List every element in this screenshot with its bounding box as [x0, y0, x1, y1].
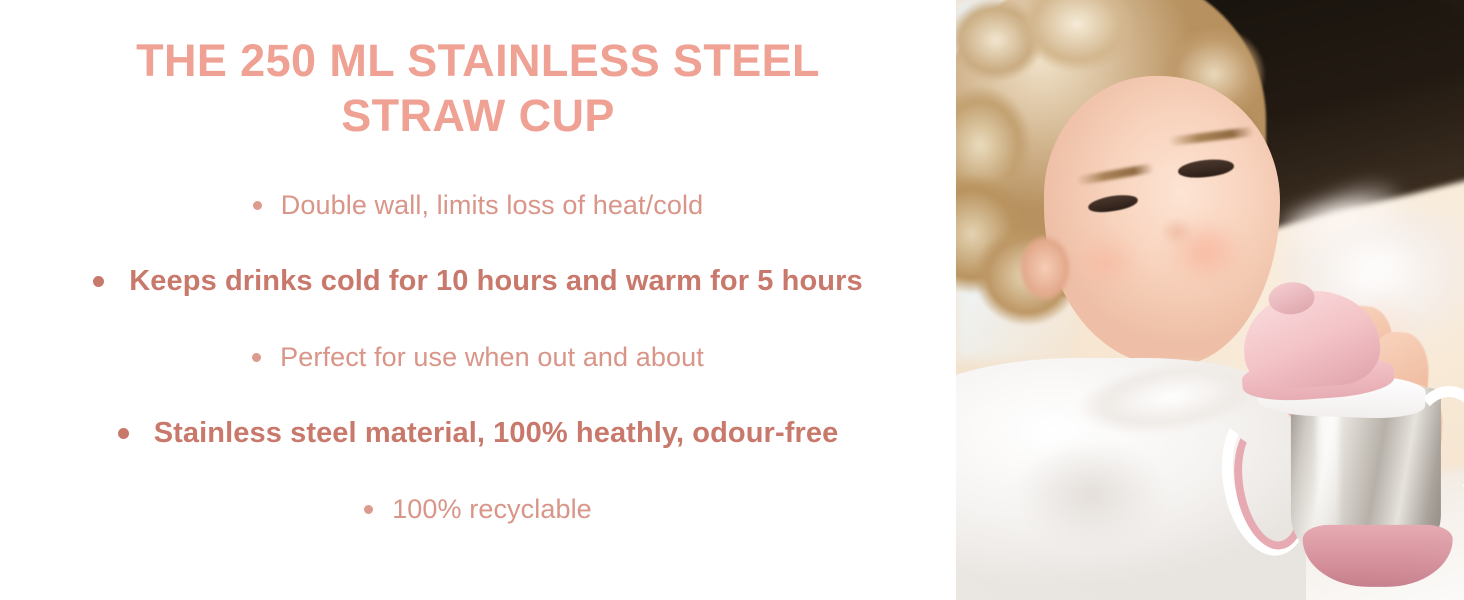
nose — [1154, 212, 1200, 252]
feature-item-1: Double wall, limits loss of heat/cold — [28, 170, 928, 242]
straw-cup-product — [1232, 274, 1464, 589]
feature-item-2: Keeps drinks cold for 10 hours and warm … — [28, 242, 928, 322]
feature-item-5: 100% recyclable — [28, 474, 928, 546]
feature-text: Keeps drinks cold for 10 hours and warm … — [129, 265, 862, 298]
feature-list: Double wall, limits loss of heat/cold Ke… — [28, 170, 928, 546]
bullet-dot-icon — [253, 201, 262, 210]
feature-item-4: Stainless steel material, 100% heathly, … — [28, 394, 928, 474]
feature-text: Stainless steel material, 100% heathly, … — [154, 417, 839, 450]
page-title: THE 250 ML STAINLESS STEEL STRAW CUP — [68, 34, 888, 144]
feature-item-3: Perfect for use when out and about — [28, 322, 928, 394]
headline-line-2: STRAW CUP — [68, 89, 888, 144]
product-feature-banner: THE 250 ML STAINLESS STEEL STRAW CUP Dou… — [0, 0, 1464, 600]
feature-text: Perfect for use when out and about — [280, 342, 704, 373]
bullet-dot-icon — [118, 428, 129, 439]
bullet-dot-icon — [93, 276, 104, 287]
ear — [1018, 234, 1072, 302]
text-panel: THE 250 ML STAINLESS STEEL STRAW CUP Dou… — [0, 0, 956, 600]
headline-line-1: THE 250 ML STAINLESS STEEL — [68, 34, 888, 89]
feature-text: 100% recyclable — [392, 494, 592, 525]
bullet-dot-icon — [364, 505, 373, 514]
photo-scene — [956, 0, 1464, 600]
product-photo — [956, 0, 1464, 600]
feature-text: Double wall, limits loss of heat/cold — [281, 190, 703, 221]
shirt-fold — [986, 420, 1196, 570]
bullet-dot-icon — [252, 353, 261, 362]
cheek — [1060, 222, 1152, 302]
